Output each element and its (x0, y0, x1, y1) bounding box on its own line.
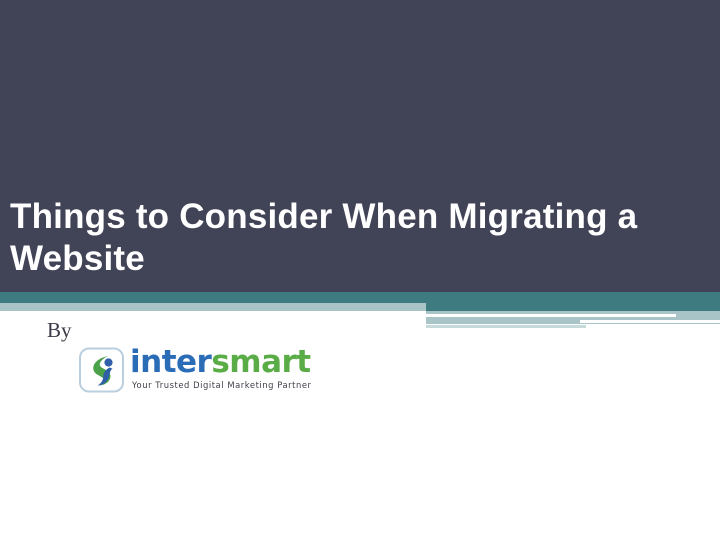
logo-word-smart: smart (211, 344, 310, 380)
band-left-light (0, 303, 426, 311)
band-main-teal (0, 292, 720, 303)
logo-tagline: Your Trusted Digital Marketing Partner (132, 380, 312, 391)
logo-wordmark: intersmart (130, 345, 311, 379)
hero-panel: Things to Consider When Migrating a Webs… (0, 0, 720, 292)
intersmart-person-mark-icon (78, 347, 126, 393)
decorative-band (0, 292, 720, 338)
page-title: Things to Consider When Migrating a Webs… (10, 196, 716, 280)
band-right-white-1 (426, 314, 676, 317)
band-right-white-2 (580, 320, 720, 323)
band-right-light-3 (426, 325, 586, 328)
slide-canvas: Things to Consider When Migrating a Webs… (0, 0, 720, 540)
logo-word-inter: inter (130, 344, 211, 380)
intersmart-logo: intersmart Your Trusted Digital Marketin… (78, 345, 313, 400)
band-right-teal (426, 303, 720, 311)
byline-label: By (47, 318, 72, 342)
